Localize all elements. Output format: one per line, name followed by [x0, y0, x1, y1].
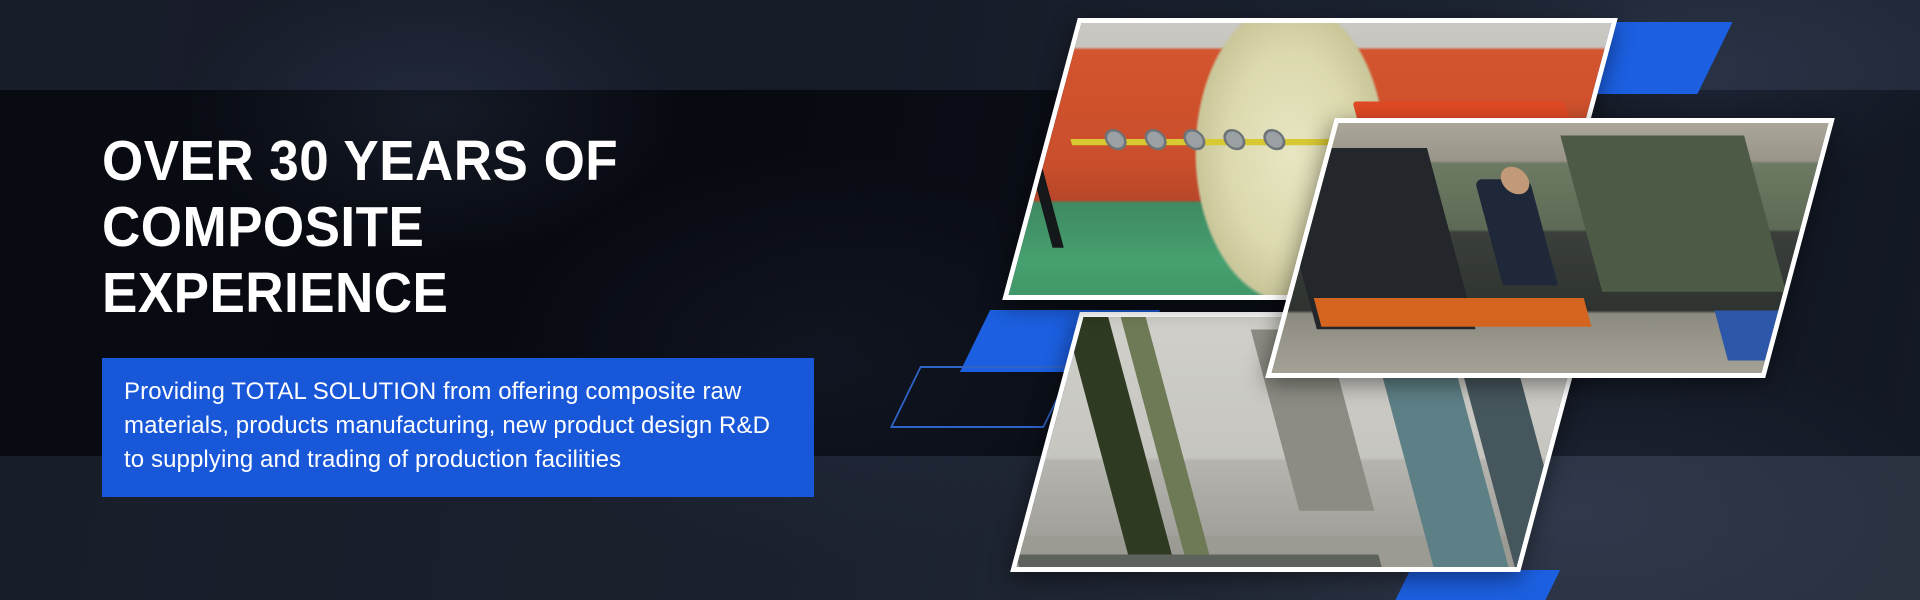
photo-shape	[1313, 298, 1590, 326]
banner-headline: OVER 30 YEARS OF COMPOSITE EXPERIENCE	[102, 128, 772, 326]
photo-shape	[1181, 128, 1208, 149]
parallelogram-bottom	[1380, 570, 1560, 600]
parallelogram-middle-outline	[890, 366, 1074, 428]
banner-copy: OVER 30 YEARS OF COMPOSITE EXPERIENCE Pr…	[102, 128, 822, 497]
photo-shape	[1221, 128, 1248, 149]
hero-banner: OVER 30 YEARS OF COMPOSITE EXPERIENCE Pr…	[0, 0, 1920, 600]
press-line-photo-content	[1265, 118, 1835, 378]
photo-shape	[1016, 555, 1384, 573]
banner-description-box: Providing TOTAL SOLUTION from offering c…	[102, 358, 814, 496]
photo-shape	[1102, 128, 1129, 149]
photo-shape	[1475, 179, 1559, 285]
photo-shape	[1261, 128, 1288, 149]
banner-description: Providing TOTAL SOLUTION from offering c…	[124, 375, 792, 477]
press-line-photo	[1265, 118, 1835, 378]
photo-shape	[1142, 128, 1169, 149]
photo-shape	[1560, 136, 1786, 292]
